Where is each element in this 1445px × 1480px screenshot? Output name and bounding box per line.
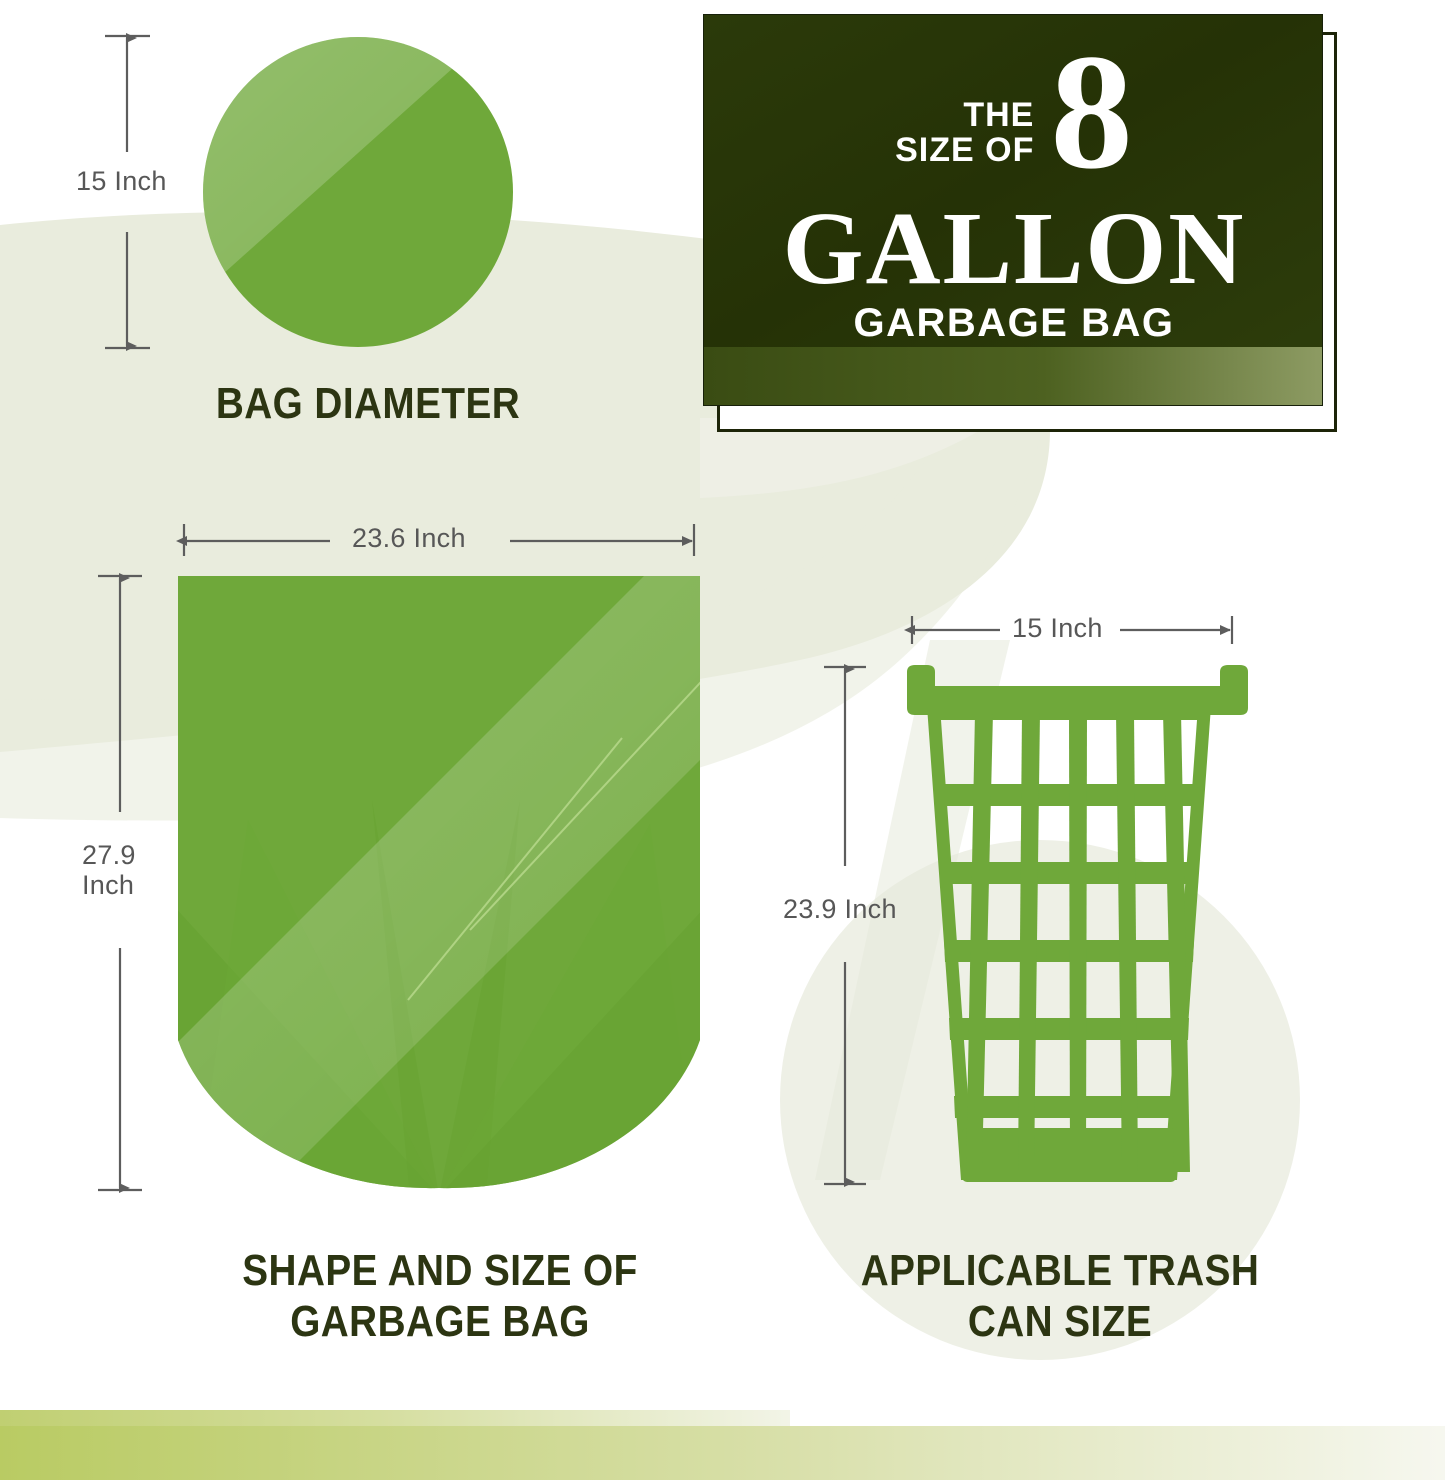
dimension-label-23-6-inch: 23.6 Inch (352, 523, 466, 554)
banner-size-of-label: SIZE OF (895, 133, 1034, 169)
dimension-label-27-9-line2: Inch (82, 870, 178, 900)
bag-diameter-circle (0, 0, 540, 420)
dimension-line-23-9-inch-vertical (824, 667, 866, 1184)
banner-the-label: THE (963, 98, 1034, 134)
banner-garbage-bag-label: GARBAGE BAG (704, 301, 1323, 346)
gallon-banner: THE SIZE OF 8 GALLON GARBAGE BAG (703, 14, 1327, 419)
caption-can-line2: CAN SIZE (796, 1296, 1324, 1347)
dimension-label-27-9-line1: 27.9 (82, 840, 178, 870)
banner-gallon-number: 8 (1050, 41, 1133, 183)
caption-can-line1: APPLICABLE TRASH (796, 1245, 1324, 1296)
garbage-bag-shape (120, 520, 820, 1220)
banner-text-wrap: THE SIZE OF 8 GALLON GARBAGE BAG (704, 15, 1323, 349)
caption-applicable-trash-can: APPLICABLE TRASH CAN SIZE (796, 1245, 1324, 1347)
banner-the-size-of-group: THE SIZE OF (895, 98, 1034, 169)
dimension-label-15-inch-can: 15 Inch (1012, 613, 1103, 644)
dimension-label-15-inch-top: 15 Inch (76, 166, 167, 197)
dimension-label-27-9-inch: 27.9 Inch (82, 840, 178, 900)
caption-shape-line1: SHAPE AND SIZE OF (158, 1245, 721, 1296)
caption-bag-diameter: BAG DIAMETER (139, 378, 597, 429)
infographic-canvas: THE SIZE OF 8 GALLON GARBAGE BAG 15 Inch… (0, 0, 1445, 1480)
caption-shape-line2: GARBAGE BAG (158, 1296, 721, 1347)
dimension-label-23-9-inch: 23.9 Inch (783, 894, 897, 925)
banner-top-row: THE SIZE OF 8 (704, 41, 1323, 183)
trash-can-shape (907, 665, 1248, 1182)
banner-foot-strip (704, 347, 1322, 405)
banner-plate: THE SIZE OF 8 GALLON GARBAGE BAG (703, 14, 1323, 406)
caption-shape-and-size: SHAPE AND SIZE OF GARBAGE BAG (158, 1245, 721, 1347)
banner-gallon-label: GALLON (704, 197, 1323, 301)
